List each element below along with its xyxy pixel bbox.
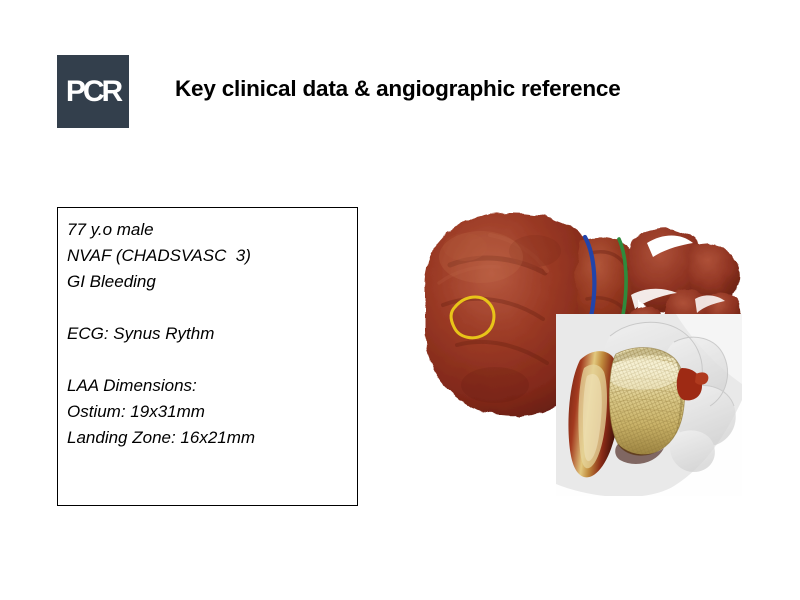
slide-canvas: PCR Key clinical data & angiographic ref… xyxy=(0,0,800,600)
clinical-line: Ostium: 19x31mm xyxy=(67,399,357,425)
clinical-data-box: 77 y.o male NVAF (CHADSVASC 3) GI Bleedi… xyxy=(57,207,358,506)
page-title: Key clinical data & angiographic referen… xyxy=(175,76,621,102)
pcr-logo-text: PCR xyxy=(66,77,120,107)
occluder-inset-figure xyxy=(556,314,742,496)
clinical-line: GI Bleeding xyxy=(67,269,357,295)
clinical-line: ECG: Synus Rythm xyxy=(67,321,357,347)
clinical-line-spacer xyxy=(67,295,357,321)
clinical-line: LAA Dimensions: xyxy=(67,373,357,399)
clinical-line: Landing Zone: 16x21mm xyxy=(67,425,357,451)
clinical-line: 77 y.o male xyxy=(67,217,357,243)
pcr-logo: PCR xyxy=(57,55,129,128)
clinical-line: NVAF (CHADSVASC 3) xyxy=(67,243,357,269)
clinical-line-spacer xyxy=(67,347,357,373)
